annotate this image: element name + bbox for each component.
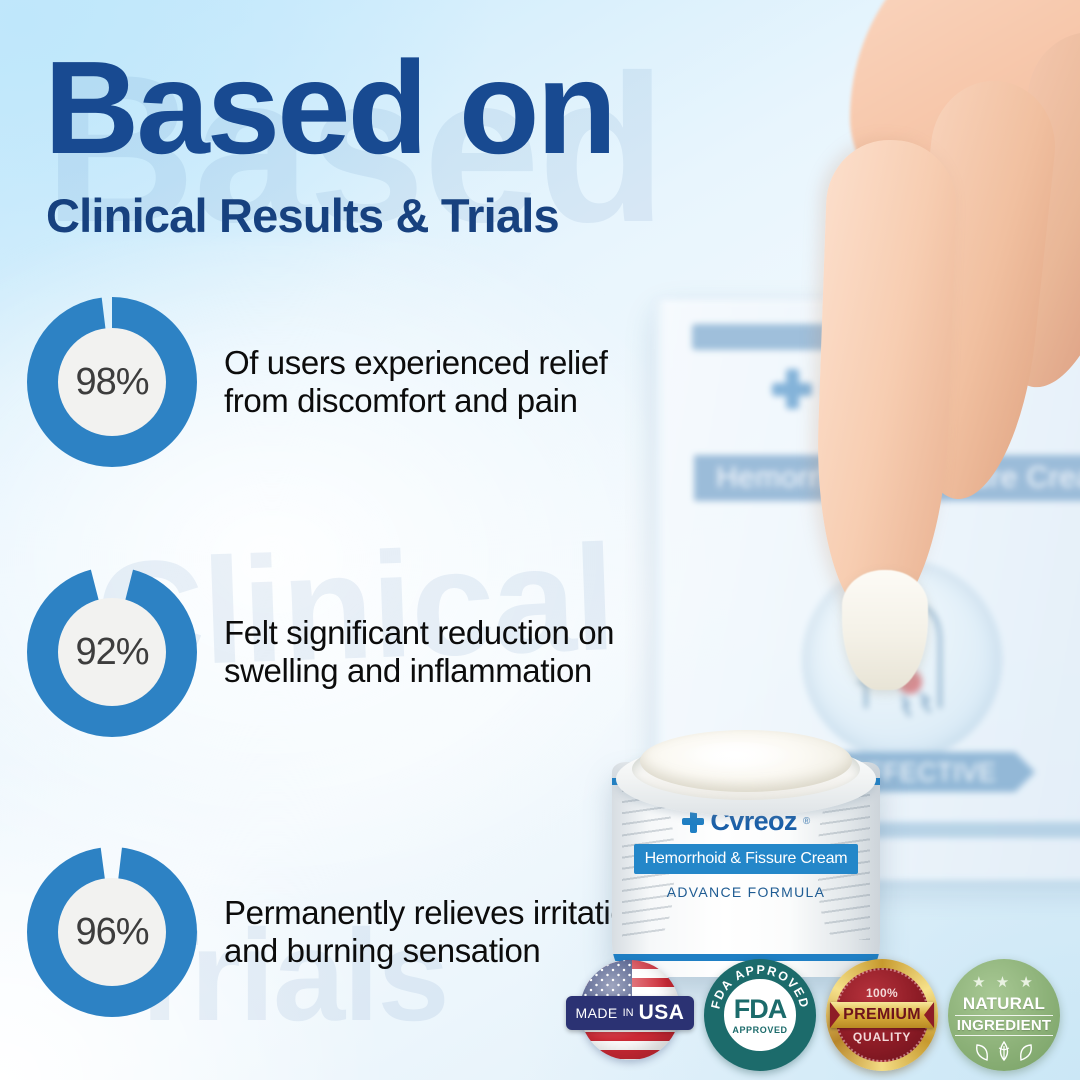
fda-center-seal: FDA APPROVED — [721, 976, 799, 1054]
premium-red-face: 100% PREMIUM QUALITY — [835, 968, 929, 1062]
jar-formula-label: ADVANCE FORMULA — [612, 884, 880, 900]
usa-made-label: MADE — [576, 1005, 618, 1021]
premium-quality-label: QUALITY — [853, 1030, 911, 1044]
product-jar: Cvreoz ® Hemorrhoid & Fissure Cream ADVA… — [612, 690, 880, 980]
stat-caption-92: Felt significant reduction on swelling a… — [224, 614, 666, 691]
carton-top-bar — [692, 324, 1080, 350]
usa-in-label: IN — [623, 1007, 634, 1019]
carton-band-label: Hemorrhoid & Fissure Cream — [694, 455, 1080, 501]
ad-creative-canvas: Based Clinical Trials Cvreoz Hemorrhoid … — [0, 0, 1080, 1080]
badge-premium-quality: 100% PREMIUM QUALITY — [826, 959, 938, 1071]
stat-caption-98: Of users experienced relief from discomf… — [224, 344, 666, 421]
stat-row: 98% Of users experienced relief from dis… — [26, 292, 666, 472]
leaves-icon — [973, 1040, 1035, 1062]
fda-center-sub: APPROVED — [732, 1025, 787, 1035]
donut-chart-98: 98% — [26, 296, 198, 468]
page-title: Based on — [44, 46, 614, 170]
donut-chart-92: 92% — [26, 566, 198, 738]
jar-band-label: Hemorrhoid & Fissure Cream — [634, 844, 858, 874]
badge-fda-approved: FDA APPROVED FDA APPROVED FDA APPROVED — [704, 959, 816, 1071]
natural-stars-icon: ★ ★ ★ — [972, 973, 1036, 991]
donut-value-92: 92% — [58, 598, 166, 706]
trust-badge-row: MADE IN USA FDA APPROVED FDA APPROVED — [566, 956, 1080, 1074]
premium-banner-label: PREMIUM — [830, 1002, 934, 1028]
usa-ribbon: MADE IN USA — [566, 996, 694, 1030]
fda-center-word: FDA — [734, 996, 787, 1023]
donut-value-98: 98% — [58, 328, 166, 436]
natural-circle-face: ★ ★ ★ NATURAL INGREDIENT — [948, 959, 1060, 1071]
usa-usa-label: USA — [639, 1001, 685, 1025]
badge-made-in-usa: MADE IN USA — [566, 960, 694, 1070]
registered-mark: ® — [803, 816, 810, 827]
jar-cream-swirl — [682, 742, 792, 772]
badge-natural-ingredient: ★ ★ ★ NATURAL INGREDIENT — [948, 959, 1060, 1071]
page-subtitle: Clinical Results & Trials — [46, 192, 559, 239]
donut-value-96: 96% — [58, 878, 166, 986]
natural-line-2: INGREDIENT — [955, 1015, 1054, 1036]
natural-line-1: NATURAL — [963, 994, 1045, 1014]
carton-brand: Cvreoz — [772, 362, 969, 416]
stat-row: 92% Felt significant reduction on swelli… — [26, 562, 666, 742]
premium-100-label: 100% — [866, 986, 898, 1000]
carton-brand-label: Cvreoz — [822, 362, 969, 416]
donut-chart-96: 96% — [26, 846, 198, 1018]
medical-cross-icon — [772, 369, 812, 409]
